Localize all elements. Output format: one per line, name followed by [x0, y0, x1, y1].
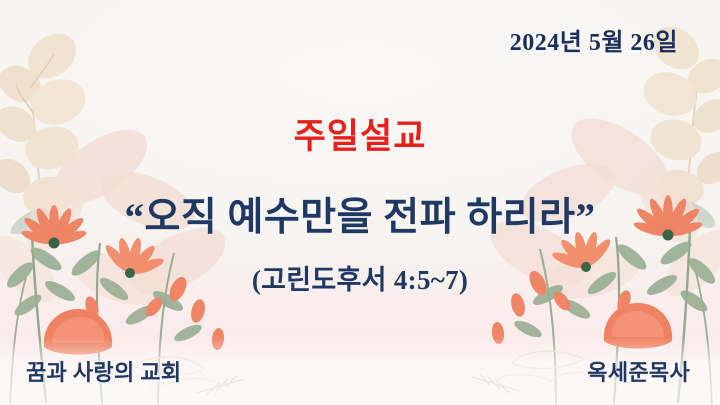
sermon-title-card: 2024년 5월 26일 주일설교 “오직 예수만을 전파 하리라” (고린도후… [0, 0, 720, 405]
sermon-title: “오직 예수만을 전파 하리라” [0, 186, 720, 242]
church-name: 꿈과 사랑의 교회 [26, 355, 181, 387]
scripture-reference: (고린도후서 4:5~7) [0, 258, 720, 297]
preacher-name: 옥세준목사 [587, 355, 690, 387]
sermon-date: 2024년 5월 26일 [510, 22, 678, 57]
sermon-label: 주일설교 [0, 108, 720, 159]
